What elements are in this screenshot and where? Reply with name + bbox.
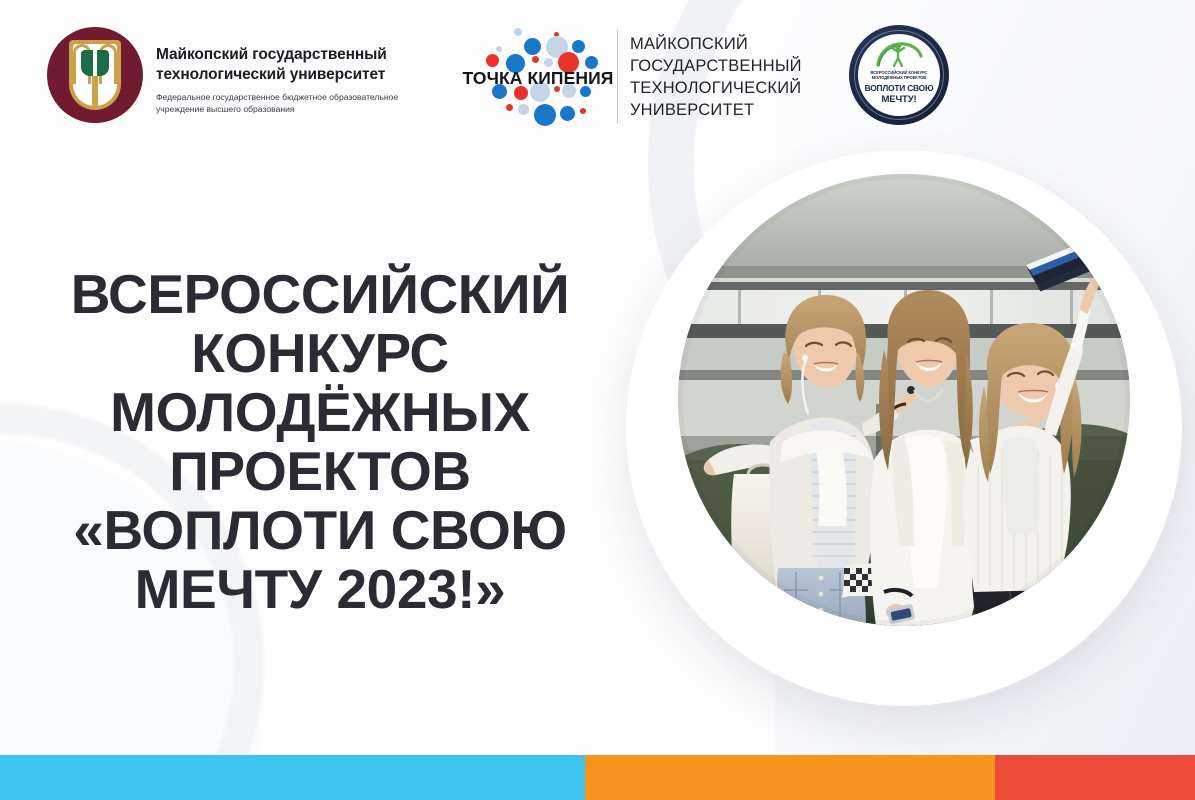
mgtu-logo-subtitle: Федеральное государственное бюджетное об… bbox=[156, 91, 408, 116]
page-title: ВСЕРОССИЙСКИЙ КОНКУРС МОЛОДЁЖНЫХ ПРОЕКТО… bbox=[42, 265, 598, 620]
mgtu-caps-line-4: УНИВЕРСИТЕТ bbox=[630, 100, 802, 122]
tochka-kipeniya-logo-block: ТОЧКА КИПЕНИЯ bbox=[462, 24, 612, 130]
mgtu-caps-line-2: ГОСУДАРСТВЕННЫЙ bbox=[630, 56, 802, 78]
mgtu-caps-line-1: МАЙКОПСКИЙ bbox=[630, 34, 802, 56]
badge-small-text: ВСЕРОССИЙСКИЙ КОНКУРС МОЛОДЁЖНЫХ ПРОЕКТО… bbox=[858, 70, 940, 81]
mgtu-logo-title: Майкопский государственный технологическ… bbox=[156, 45, 408, 85]
photo-circle-frame bbox=[626, 150, 1182, 706]
badge-main-line-1: ВОПЛОТИ СВОЮ bbox=[858, 83, 940, 93]
headline-line-2: КОНКУРС bbox=[42, 324, 598, 383]
three-students-celebrating-photo bbox=[678, 174, 1130, 626]
contest-badge-logo: ВСЕРОССИЙСКИЙ КОНКУРС МОЛОДЁЖНЫХ ПРОЕКТО… bbox=[849, 25, 949, 125]
jumping-figure-icon bbox=[874, 41, 924, 68]
headline-line-1: ВСЕРОССИЙСКИЙ bbox=[42, 265, 598, 324]
tochka-kipeniya-wordmark: ТОЧКА КИПЕНИЯ bbox=[462, 68, 614, 89]
mgtu-logo-block: Майкопский государственный технологическ… bbox=[47, 27, 408, 123]
mgtu-shield-emblem-icon bbox=[47, 27, 143, 123]
header-divider bbox=[617, 30, 618, 124]
headline-line-3: МОЛОДЁЖНЫХ bbox=[42, 383, 598, 442]
logo-header-row: Майкопский государственный технологическ… bbox=[0, 0, 1195, 146]
mgtu-caps-line-3: ТЕХНОЛОГИЧЕСКИЙ bbox=[630, 78, 802, 100]
colorbar-segment-orange bbox=[585, 755, 995, 800]
mgtu-caps-name-block: МАЙКОПСКИЙ ГОСУДАРСТВЕННЫЙ ТЕХНОЛОГИЧЕСК… bbox=[630, 34, 802, 122]
badge-main-line-2: МЕЧТУ! bbox=[858, 94, 940, 105]
poster-canvas: Майкопский государственный технологическ… bbox=[0, 0, 1195, 800]
headline-line-5: «ВОПЛОТИ СВОЮ bbox=[42, 501, 598, 560]
bottom-color-bar bbox=[0, 755, 1195, 800]
headline-line-4: ПРОЕКТОВ bbox=[42, 442, 598, 501]
headline-line-6: МЕЧТУ 2023!» bbox=[42, 560, 598, 619]
colorbar-segment-red bbox=[995, 755, 1195, 800]
colorbar-segment-cyan bbox=[0, 755, 585, 800]
